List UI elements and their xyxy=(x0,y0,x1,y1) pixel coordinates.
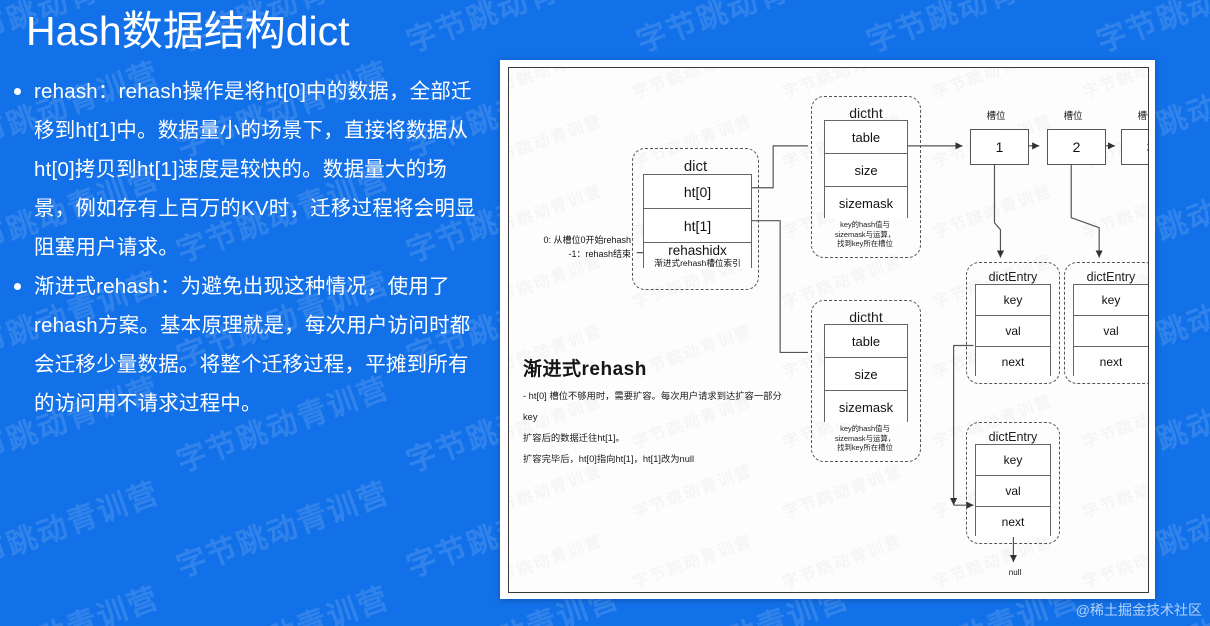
dictentry-1-field-val-label: val xyxy=(1005,324,1020,338)
rehashidx-annotation-line2: -1：rehash结束 xyxy=(508,247,631,261)
dictentry-3-field-key: key xyxy=(976,445,1050,476)
dictentry-2-field-val: val xyxy=(1074,316,1148,347)
slot-2: 2 xyxy=(1047,129,1106,165)
dict-field-ht0: ht[0] xyxy=(644,175,751,209)
dictentry-1-field-key-label: key xyxy=(1004,293,1023,307)
diagram-panel: 字节跳动青训营字节跳动青训营字节跳动青训营字节跳动青训营字节跳动青训营字节跳动青… xyxy=(500,60,1155,599)
page-title: Hash数据结构dict xyxy=(26,4,350,58)
dictentry-2-fields: key val next xyxy=(1073,284,1149,376)
list-item: 渐进式rehash：为避免出现这种情况，使用了rehash方案。基本原理就是，每… xyxy=(8,267,482,423)
dictht-top-field-sizemask: sizemask xyxy=(825,187,907,219)
dictentry-3-field-key-label: key xyxy=(1004,453,1023,467)
dict-field-rehashidx-sub: 渐进式rehash槽位索引 xyxy=(654,258,740,269)
diagram-canvas: 字节跳动青训营字节跳动青训营字节跳动青训营字节跳动青训营字节跳动青训营字节跳动青… xyxy=(508,67,1149,593)
watermark-text: 字节跳动青训营 xyxy=(859,0,1085,61)
dictentry-1-field-val: val xyxy=(976,316,1050,347)
slot-1-caption: 槽位 xyxy=(976,108,1016,122)
slot-2-caption: 槽位 xyxy=(1053,108,1093,122)
dictentry-1-field-key: key xyxy=(976,285,1050,316)
dict-title: dict xyxy=(633,158,758,175)
bullet-text: rehash：rehash操作是将ht[0]中的数据，全部迁移到ht[1]中。数… xyxy=(34,72,482,267)
dict-field-ht0-label: ht[0] xyxy=(684,184,711,200)
rehash-section-line1: - ht[0] 槽位不够用时，需要扩容。每次用户请求到达扩容一部分key xyxy=(523,386,791,428)
watermark-text: 字节跳动青训营 xyxy=(629,0,855,61)
dictentry-2-field-next-label: next xyxy=(1100,355,1123,369)
dictht-bottom-field-table: table xyxy=(825,325,907,358)
dict-fields: ht[0] ht[1] rehashidx 渐进式rehash槽位索引 xyxy=(643,174,752,268)
dictht-bottom-fields: table size sizemask xyxy=(824,324,908,422)
dictht-top-field-size: size xyxy=(825,154,907,187)
null-label: null xyxy=(995,568,1035,577)
dictentry-2-field-next: next xyxy=(1074,347,1148,377)
dict-field-rehashidx: rehashidx 渐进式rehash槽位索引 xyxy=(644,243,751,269)
diagram-stage: dict ht[0] ht[1] rehashidx 渐进式rehash槽位索引… xyxy=(509,68,1148,592)
bullet-list: rehash：rehash操作是将ht[0]中的数据，全部迁移到ht[1]中。数… xyxy=(8,72,482,423)
dict-field-ht1: ht[1] xyxy=(644,209,751,243)
rehashidx-annotation-line1: 0: 从槽位0开始rehash xyxy=(508,233,631,247)
dictht-bottom-field-table-label: table xyxy=(852,334,880,349)
dictht-bottom-field-size: size xyxy=(825,358,907,391)
slide-text-column: Hash数据结构dict rehash：rehash操作是将ht[0]中的数据，… xyxy=(0,0,492,626)
dictentry-3-title: dictEntry xyxy=(967,430,1059,444)
dictht-top-fields: table size sizemask xyxy=(824,120,908,218)
dictht-top-field-sizemask-label: sizemask xyxy=(839,196,893,211)
credit-watermark: @稀土掘金技术社区 xyxy=(1076,600,1202,620)
dictht-top-note: key的hash值与 sizemask与运算， 找到key所在槽位 xyxy=(805,220,925,249)
dictentry-3-field-next-label: next xyxy=(1002,515,1025,529)
dict-field-ht1-label: ht[1] xyxy=(684,218,711,234)
dictht-bottom-note: key的hash值与 sizemask与运算， 找到key所在槽位 xyxy=(805,424,925,453)
rehashidx-annotation: 0: 从槽位0开始rehash -1：rehash结束 xyxy=(508,233,631,261)
slot-3-value: 3 xyxy=(1147,139,1149,155)
dict-field-rehashidx-label: rehashidx xyxy=(668,244,727,258)
list-item: rehash：rehash操作是将ht[0]中的数据，全部迁移到ht[1]中。数… xyxy=(8,72,482,267)
rehash-section-line3: 扩容完毕后，ht[0]指向ht[1]，ht[1]改为null xyxy=(523,449,791,470)
slot-1: 1 xyxy=(970,129,1029,165)
rehash-section-body: - ht[0] 槽位不够用时，需要扩容。每次用户请求到达扩容一部分key 扩容后… xyxy=(523,386,791,470)
slot-3-caption: 槽位 xyxy=(1127,108,1149,122)
dictentry-1-field-next: next xyxy=(976,347,1050,377)
dictentry-1-title: dictEntry xyxy=(967,270,1059,284)
dictentry-3-field-val: val xyxy=(976,476,1050,507)
dictentry-3-fields: key val next xyxy=(975,444,1051,536)
slot-2-value: 2 xyxy=(1073,139,1081,155)
dictentry-1-field-next-label: next xyxy=(1002,355,1025,369)
dictentry-1-fields: key val next xyxy=(975,284,1051,376)
dictentry-2-field-key-label: key xyxy=(1102,293,1121,307)
dictht-top-field-size-label: size xyxy=(854,163,877,178)
slot-3: 3 xyxy=(1121,129,1149,165)
bullet-text: 渐进式rehash：为避免出现这种情况，使用了rehash方案。基本原理就是，每… xyxy=(34,267,482,423)
dictentry-2-title: dictEntry xyxy=(1065,270,1149,284)
dictht-top-title: dictht xyxy=(812,105,920,121)
dictht-top-field-table-label: table xyxy=(852,130,880,145)
dictht-bottom-field-sizemask-label: sizemask xyxy=(839,400,893,415)
dictht-bottom-field-size-label: size xyxy=(854,367,877,382)
dictht-bottom-field-sizemask: sizemask xyxy=(825,391,907,423)
bullet-dot-icon xyxy=(14,88,21,95)
rehash-section-heading: 渐进式rehash xyxy=(523,354,647,381)
dictht-bottom-title: dictht xyxy=(812,309,920,325)
dictentry-2-field-val-label: val xyxy=(1103,324,1118,338)
watermark-text: 字节跳动青训营 xyxy=(1089,0,1210,61)
dictentry-2-field-key: key xyxy=(1074,285,1148,316)
rehash-section-line2: 扩容后的数据迁往ht[1]。 xyxy=(523,428,791,449)
dictentry-3-field-val-label: val xyxy=(1005,484,1020,498)
dictht-top-field-table: table xyxy=(825,121,907,154)
dictentry-3-field-next: next xyxy=(976,507,1050,537)
bullet-dot-icon xyxy=(14,283,21,290)
slot-1-value: 1 xyxy=(996,139,1004,155)
